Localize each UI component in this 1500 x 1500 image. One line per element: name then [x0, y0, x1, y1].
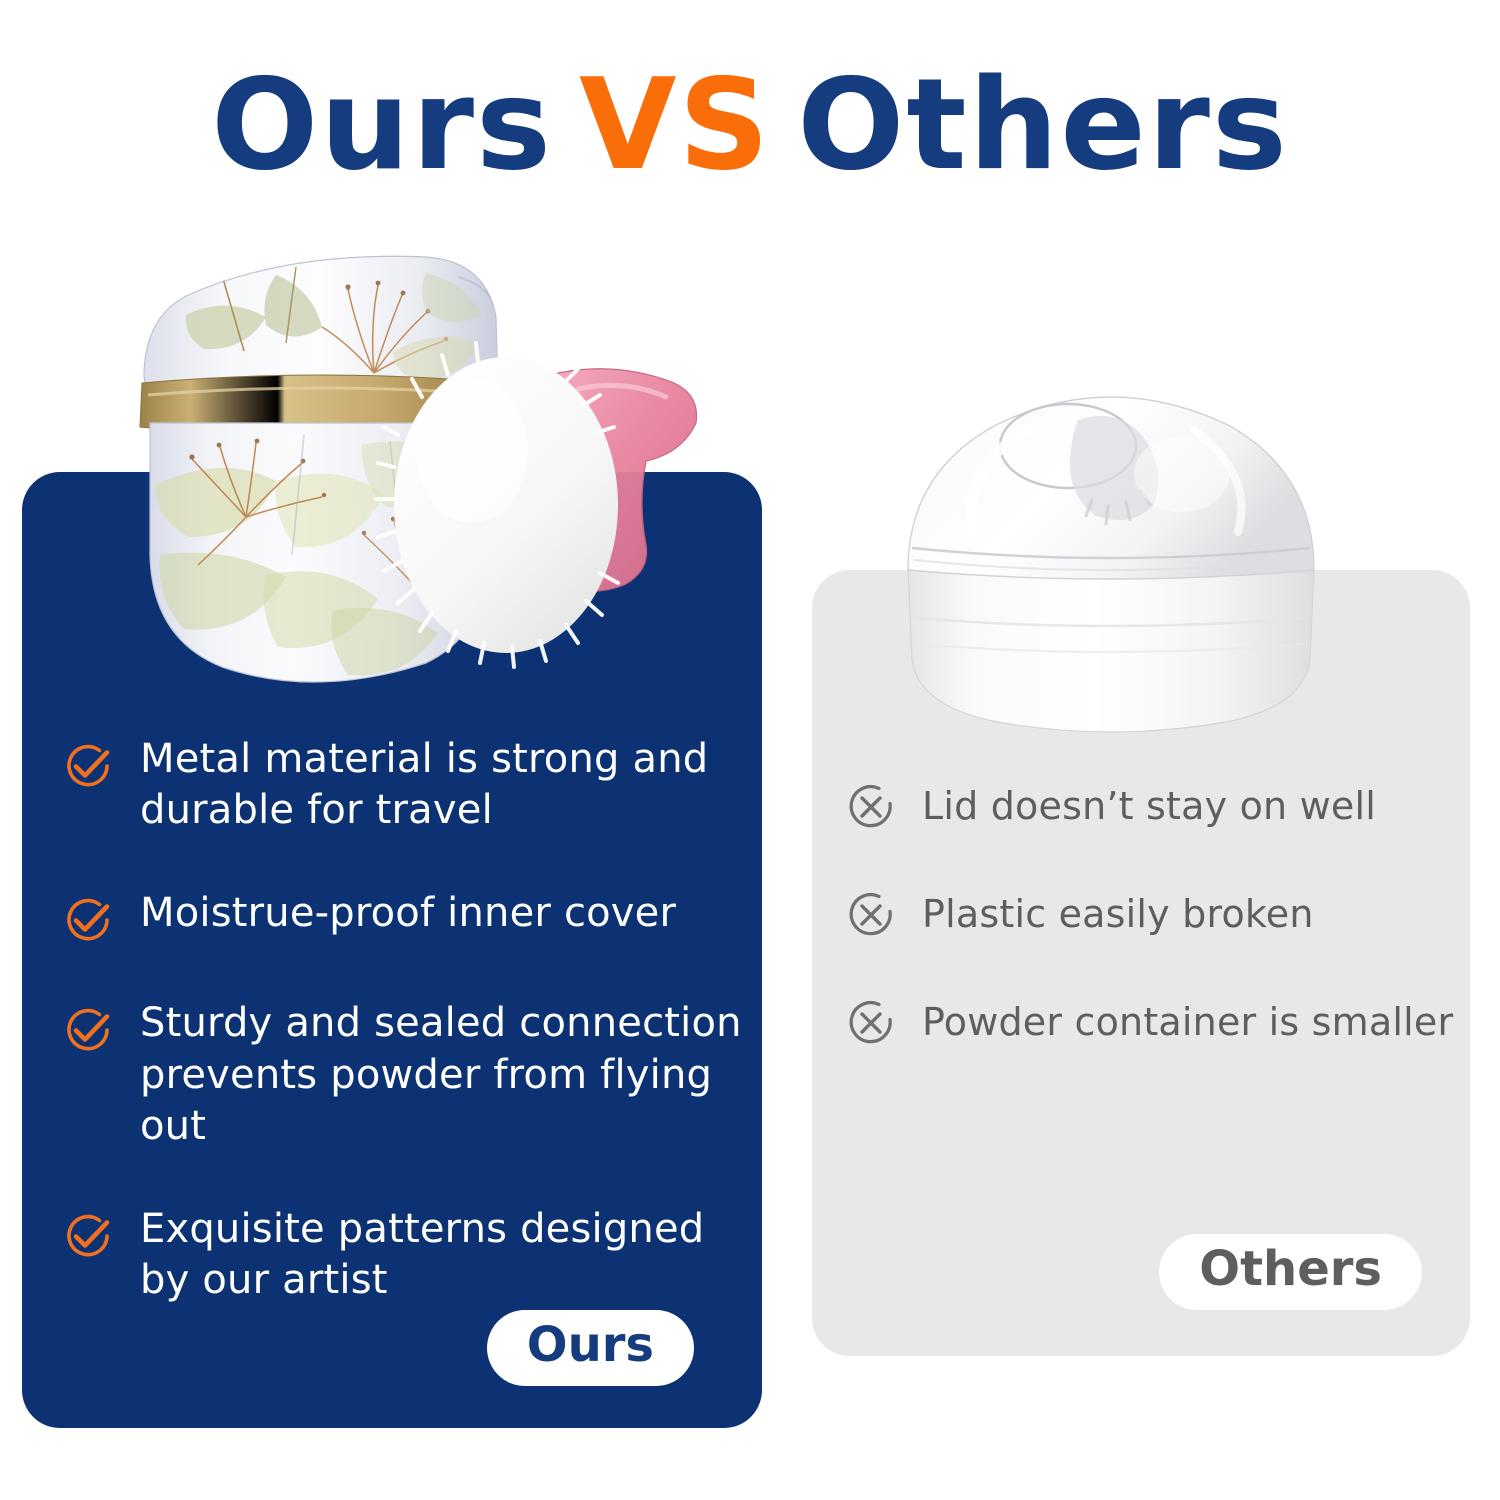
list-item-label: Lid doesn’t stay on well	[922, 783, 1376, 831]
plastic-base	[908, 568, 1314, 732]
ours-feature-list: Metal material is strong and durable for…	[62, 734, 752, 1306]
check-circle-icon	[62, 740, 114, 792]
others-product-image	[882, 382, 1340, 740]
x-circle-icon	[846, 998, 896, 1048]
check-circle-icon	[62, 1004, 114, 1056]
list-item: Moistrue-proof inner cover	[62, 888, 752, 946]
list-item-label: Moistrue-proof inner cover	[140, 888, 676, 939]
others-feature-list: Lid doesn’t stay on well Plastic easily …	[846, 782, 1456, 1048]
list-item: Sturdy and sealed connection prevents po…	[62, 998, 752, 1152]
list-item-label: Metal material is strong and durable for…	[140, 734, 752, 836]
list-item-label: Plastic easily broken	[922, 891, 1314, 939]
title-others-word: Others	[797, 51, 1289, 198]
ours-badge: Ours	[487, 1310, 694, 1386]
title-ours-word: Ours	[211, 51, 553, 198]
list-item: Powder container is smaller	[846, 998, 1456, 1048]
others-badge: Others	[1159, 1234, 1422, 1310]
list-item-label: Exquisite patterns designed by our artis…	[140, 1204, 752, 1306]
comparison-infographic: OursVSOthers Metal material is strong an…	[0, 0, 1500, 1500]
x-circle-icon	[846, 782, 896, 832]
list-item: Exquisite patterns designed by our artis…	[62, 1204, 752, 1306]
check-circle-icon	[62, 1210, 114, 1262]
list-item: Plastic easily broken	[846, 890, 1456, 940]
list-item: Metal material is strong and durable for…	[62, 734, 752, 836]
list-item: Lid doesn’t stay on well	[846, 782, 1456, 832]
x-circle-icon	[846, 890, 896, 940]
ours-product-image	[126, 255, 746, 705]
list-item-label: Sturdy and sealed connection prevents po…	[140, 998, 752, 1152]
check-circle-icon	[62, 894, 114, 946]
title-vs-word: VS	[579, 51, 771, 198]
list-item-label: Powder container is smaller	[922, 999, 1453, 1047]
page-title: OursVSOthers	[0, 62, 1500, 188]
